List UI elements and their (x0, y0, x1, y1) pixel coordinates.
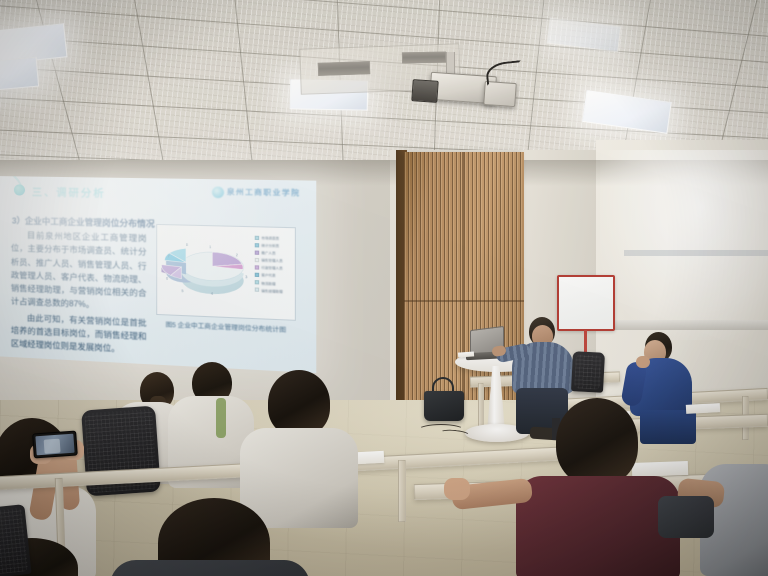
slide-section-title: 三、调研分析 (32, 184, 106, 201)
legend-swatch (255, 250, 259, 254)
projected-slide: 三、调研分析 泉州工商职业学院 3）企业中工商企业管理岗位分布情况 目前泉州地区… (0, 176, 316, 373)
chart-legend: 市场调查员 统计分析员 推广人员 销售管理人员 (255, 235, 291, 294)
svg-text:3: 3 (245, 275, 247, 279)
head-hair (268, 370, 330, 436)
legend-label: 销售经理助理 (261, 287, 282, 293)
legend-swatch (255, 288, 259, 292)
pie-chart: 1 2 3 4 5 6 7 8 (161, 231, 254, 314)
svg-text:8: 8 (186, 243, 188, 247)
legend-label: 物流助理 (261, 280, 275, 286)
slide-chart-container: 1 2 3 4 5 6 7 8 市场调查员 (156, 224, 296, 321)
legend-item: 物流助理 (255, 280, 291, 287)
legend-swatch (255, 243, 259, 247)
legend-item: 推广人员 (255, 250, 291, 256)
chair-mesh-texture (0, 507, 28, 574)
paper-sheet (686, 403, 720, 414)
institution-logo: 泉州工商职业学院 (212, 186, 301, 199)
legend-swatch (255, 235, 259, 239)
legend-item: 销售经理助理 (255, 287, 291, 294)
torso-white-shirt (240, 428, 358, 528)
wood-panel-seam (404, 300, 524, 302)
hand (636, 356, 650, 368)
logo-mark-icon (212, 186, 224, 198)
legend-label: 客户代表 (261, 272, 275, 278)
desk-leg (478, 383, 484, 429)
legend-item: 客户代表 (255, 272, 291, 278)
smartphone-screen (35, 434, 74, 456)
legend-item: 统计分析员 (255, 242, 291, 248)
logo-name: 泉州工商职业学院 (227, 189, 301, 198)
svg-text:2: 2 (236, 253, 238, 257)
bag-on-lap (658, 496, 714, 538)
slide-bullet-dot-icon (14, 184, 25, 195)
slide-paragraph-2: 由此可知，有关营销岗位是首批培养的首选目标岗位，而销售经理和区域经理岗位则是发展… (11, 310, 147, 357)
legend-item: 销售管理人员 (255, 257, 291, 263)
legend-swatch (255, 273, 259, 277)
smartphone[interactable] (32, 430, 78, 458)
slide-paragraph-1: 目前泉州地区企业工商管理岗位，主要分布于市场调查员、统计分析员、推广人员、销售管… (11, 228, 147, 314)
desk-leg (398, 460, 406, 522)
slide-body-text: 目前泉州地区企业工商管理岗位，主要分布于市场调查员、统计分析员、推广人员、销售管… (11, 228, 147, 359)
svg-text:5: 5 (181, 289, 183, 293)
lanyard (216, 398, 226, 438)
legend-item: 行政管理人员 (255, 265, 291, 271)
svg-text:1: 1 (209, 245, 211, 249)
legend-label: 统计分析员 (261, 242, 279, 248)
torso (110, 560, 310, 576)
chart-caption: 图5 企业中工商企业管理岗位分布统计图 (156, 319, 296, 335)
hand (444, 478, 470, 500)
legs (640, 410, 696, 444)
flipchart-whiteboard (557, 275, 615, 331)
projection-screen: 三、调研分析 泉州工商职业学院 3）企业中工商企业管理岗位分布情况 目前泉州地区… (0, 176, 316, 373)
legend-swatch (255, 258, 259, 262)
legend-label: 市场调查员 (261, 235, 279, 241)
legend-label: 行政管理人员 (261, 265, 282, 271)
projector-lens (411, 79, 438, 103)
torso-maroon-polo (516, 476, 680, 576)
legend-label: 推广人员 (261, 250, 275, 256)
svg-text:7: 7 (168, 254, 170, 258)
slide-decorative-arc (0, 176, 30, 218)
svg-text:4: 4 (211, 292, 213, 296)
legend-label: 销售管理人员 (261, 257, 282, 263)
window-frame (624, 250, 768, 256)
window-sill (612, 320, 768, 330)
svg-text:6: 6 (166, 277, 168, 281)
paper-sheet (632, 461, 688, 477)
presentation-room-photo: 三、调研分析 泉州工商职业学院 3）企业中工商企业管理岗位分布情况 目前泉州地区… (0, 0, 768, 576)
legend-swatch (255, 280, 259, 284)
handbag (424, 391, 464, 421)
office-chair-back (571, 351, 605, 393)
window-daylight-glow (600, 150, 768, 340)
head-hair (556, 398, 638, 486)
legend-item: 市场调查员 (255, 235, 291, 241)
pie-chart-svg: 1 2 3 4 5 6 7 8 (161, 231, 254, 314)
slide-subtitle: 3）企业中工商企业管理岗位分布情况 (12, 214, 155, 230)
whiteboard-leg (584, 330, 587, 354)
chair-mesh-texture (574, 354, 602, 389)
legend-swatch (255, 265, 259, 269)
